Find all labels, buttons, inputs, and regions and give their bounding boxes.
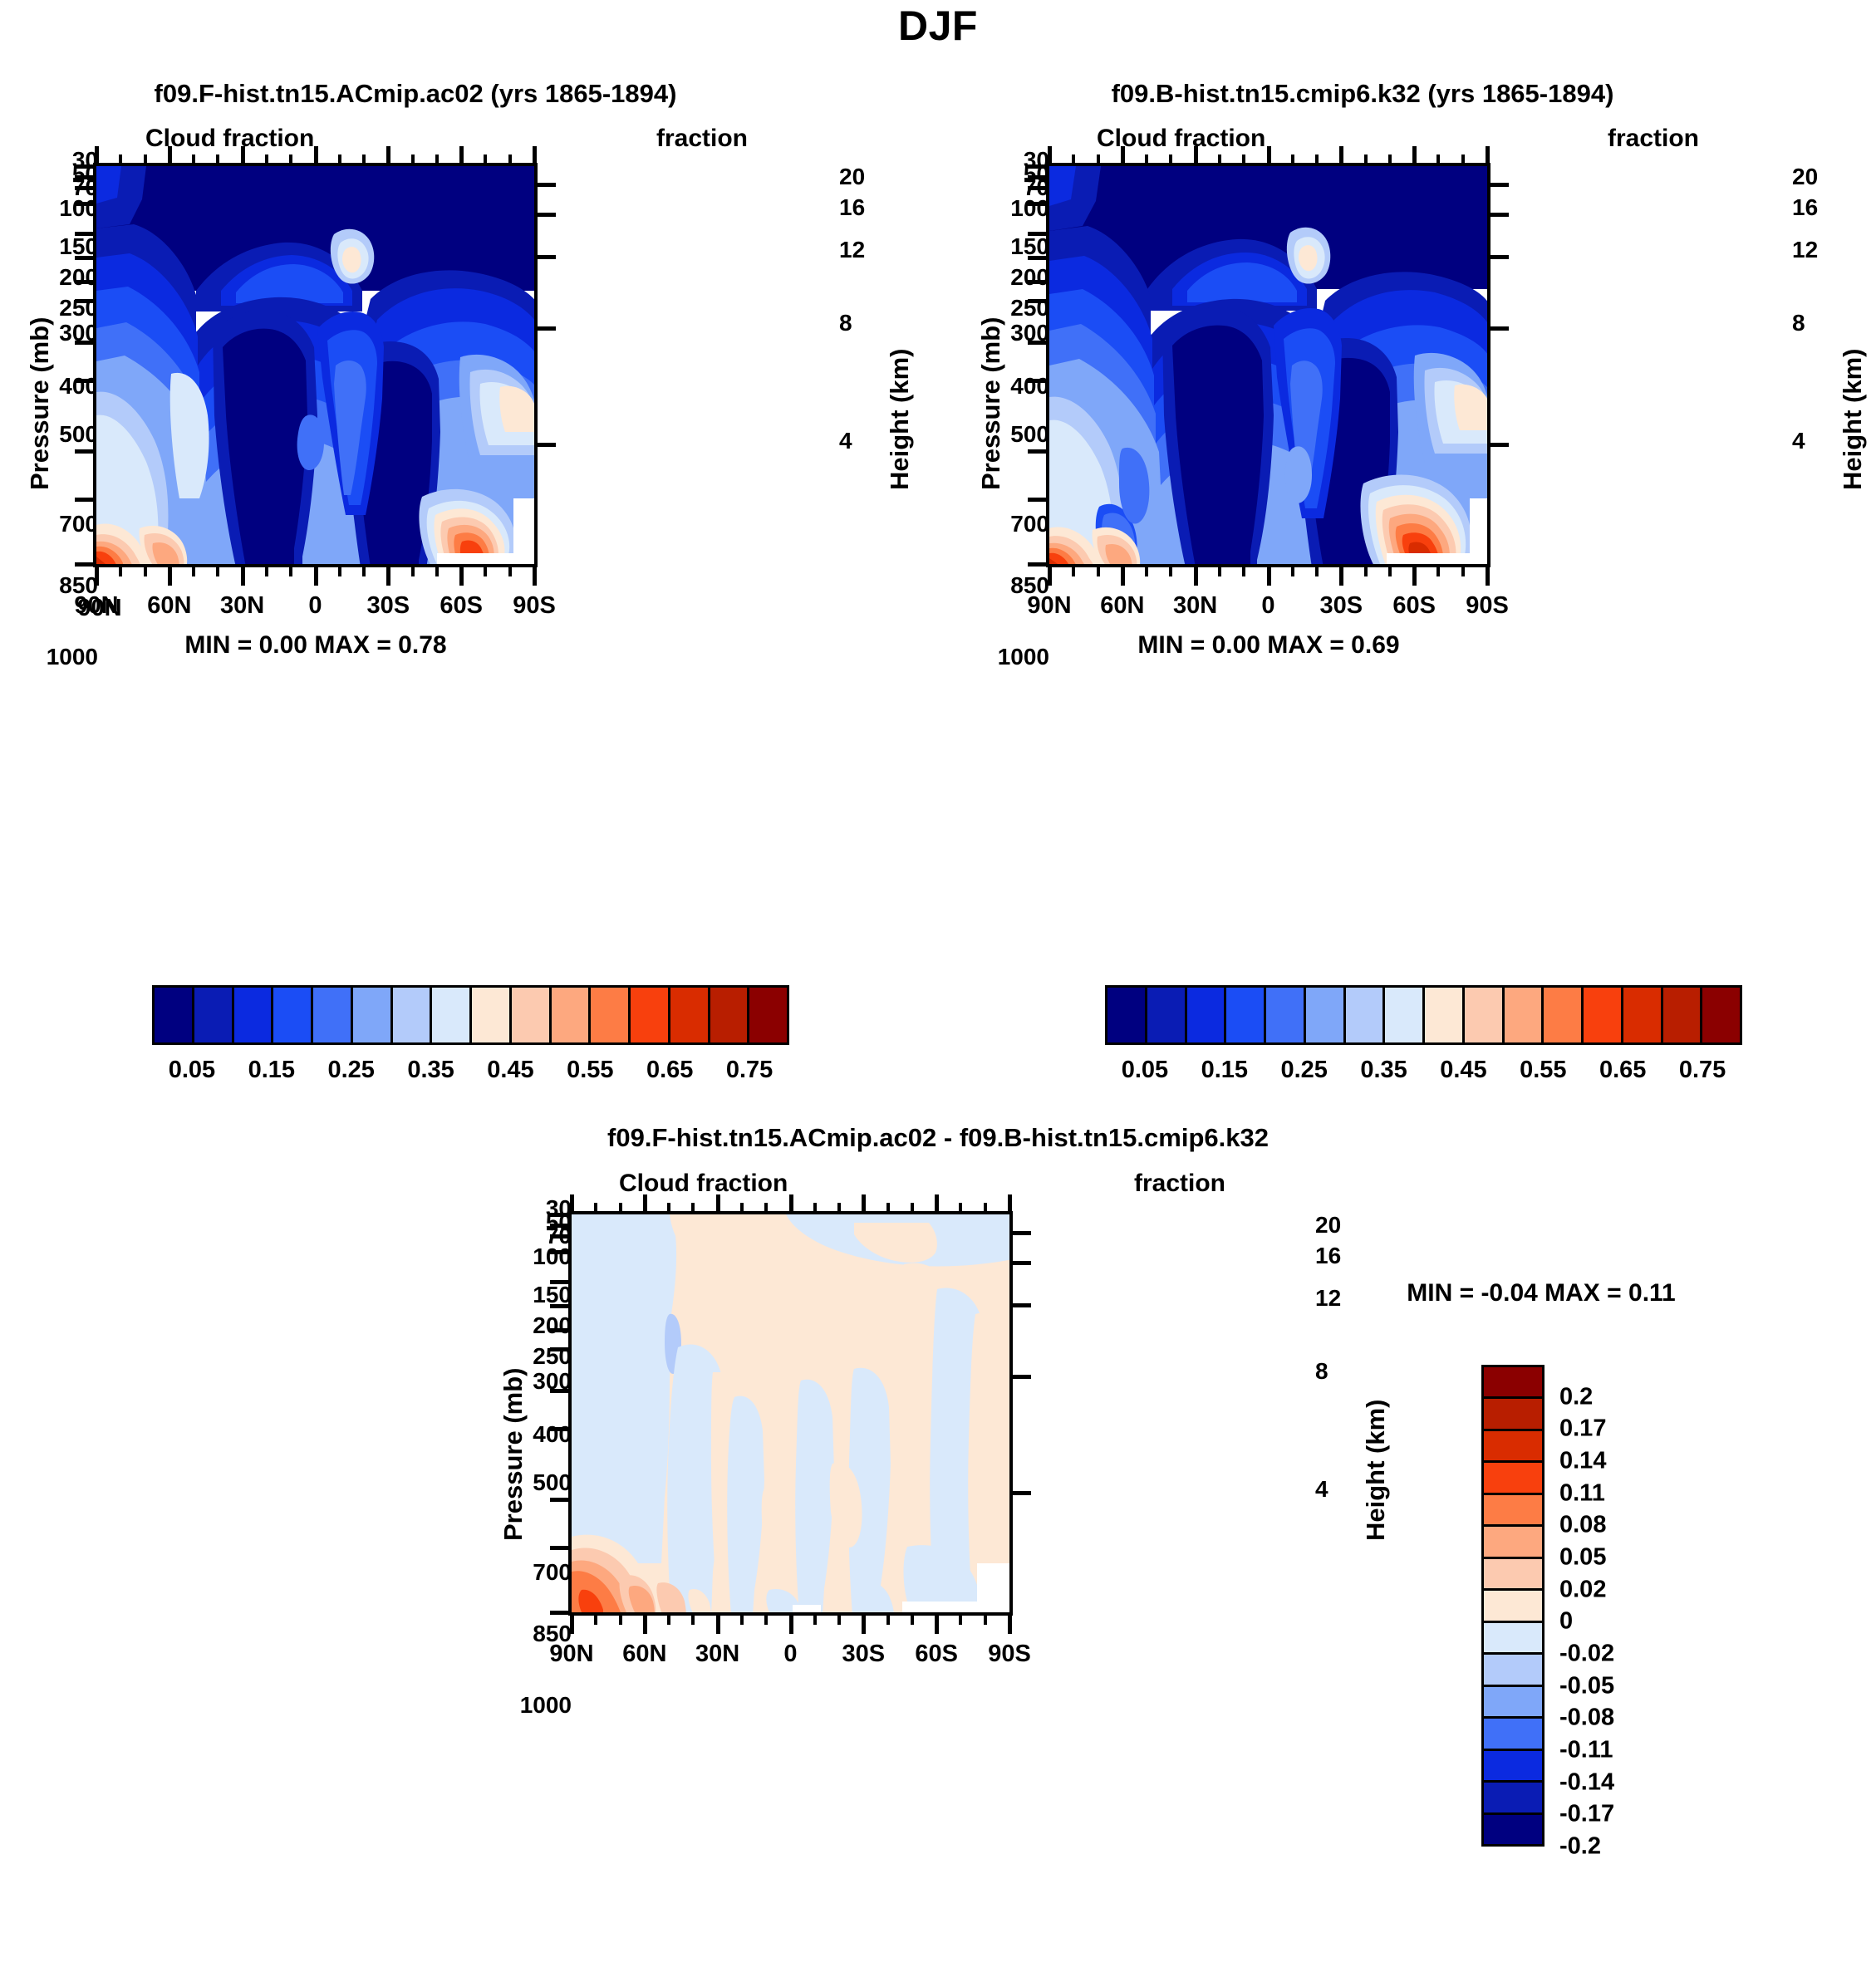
ytick-250: 250 <box>1010 295 1049 321</box>
colorbar-diff-label-2: 0.14 <box>1559 1448 1659 1475</box>
panel-diff-ylabel: Pressure (mb) <box>498 1368 528 1541</box>
panel-left-minmax: MIN = 0.00 MAX = 0.78 <box>184 631 446 660</box>
panel-diff-xtick-label-0: 0 <box>783 1641 797 1668</box>
panel-diff-xtick-label-30S: 30S <box>842 1641 886 1668</box>
colorbar-left-cell-12[interactable] <box>631 988 670 1042</box>
colorbar-diff-label-5: 0.05 <box>1559 1544 1659 1572</box>
panel-left-plot[interactable] <box>93 163 538 567</box>
colorbar-right-label-0: 0.05 <box>1122 1057 1168 1084</box>
panel-left-ylabel-right: Height (km) <box>885 349 915 491</box>
colorbar-diff-cell-12[interactable] <box>1484 1751 1542 1783</box>
panel-right-plot[interactable] <box>1046 163 1490 567</box>
ytick-150: 150 <box>59 233 98 260</box>
ytick-1000: 1000 <box>47 644 98 670</box>
colorbar-right-label-4: 0.45 <box>1440 1057 1486 1084</box>
colorbar-right-cell-8[interactable] <box>1425 988 1465 1042</box>
panel-right-xtick-label-60N: 60N <box>1100 592 1144 620</box>
colorbar-left-cell-15[interactable] <box>749 988 787 1042</box>
colorbar-right-cell-13[interactable] <box>1623 988 1663 1042</box>
ytick-500: 500 <box>1010 421 1049 448</box>
panel-diff-title: f09.F-hist.tn15.ACmip.ac02 - f09.B-hist.… <box>273 1123 1603 1153</box>
panel-left-ylabel: Pressure (mb) <box>25 317 55 490</box>
htick-20: 20 <box>1315 1212 1341 1239</box>
ytick-250: 250 <box>59 295 98 321</box>
colorbar-diff-label-10: -0.08 <box>1559 1705 1659 1732</box>
htick-8: 8 <box>1315 1358 1328 1385</box>
htick-16: 16 <box>1315 1243 1341 1269</box>
colorbar-left-label-5: 0.55 <box>567 1057 613 1084</box>
htick-4: 4 <box>1315 1476 1328 1503</box>
panel-left-xtick-label-60N: 60N <box>147 592 191 620</box>
panel-right-xtick-label-30N: 30N <box>1173 592 1217 620</box>
colorbar-right-label-7: 0.75 <box>1679 1057 1726 1084</box>
panel-left-xtick-label-30N: 30N <box>220 592 264 620</box>
panel-right-minmax: MIN = 0.00 MAX = 0.69 <box>1137 631 1399 660</box>
panel-right-subtitle-right: fraction <box>1608 125 1699 153</box>
ytick-400: 400 <box>1010 373 1049 400</box>
ytick-250: 250 <box>533 1343 572 1370</box>
colorbar-diff-cell-4[interactable] <box>1484 1495 1542 1527</box>
htick-16: 16 <box>1792 194 1818 221</box>
colorbar-diff-label-0: 0.2 <box>1559 1383 1659 1410</box>
panel-left-xtick-label-0: 0 <box>308 592 322 620</box>
panel-diff-ylabel-right: Height (km) <box>1361 1400 1391 1542</box>
colorbar-diff[interactable] <box>1481 1365 1545 1847</box>
colorbar-left-cell-8[interactable] <box>472 988 512 1042</box>
colorbar-right-cell-14[interactable] <box>1663 988 1703 1042</box>
panel-right-xtick-label-90S: 90S <box>1466 592 1509 620</box>
colorbar-diff-cell-3[interactable] <box>1484 1463 1542 1494</box>
ytick-300: 300 <box>59 320 98 346</box>
colorbar-diff-label-9: -0.05 <box>1559 1672 1659 1700</box>
panel-diff-subtitle-right: fraction <box>1134 1170 1225 1198</box>
colorbar-diff-cell-10[interactable] <box>1484 1687 1542 1719</box>
colorbar-left-label-6: 0.65 <box>646 1057 693 1084</box>
colorbar-right-cell-5[interactable] <box>1306 988 1346 1042</box>
colorbar-right-cell-9[interactable] <box>1465 988 1505 1042</box>
ytick-200: 200 <box>1010 264 1049 291</box>
colorbar-diff-cell-5[interactable] <box>1484 1527 1542 1558</box>
colorbar-diff-cell-9[interactable] <box>1484 1655 1542 1686</box>
colorbar-left-label-2: 0.25 <box>327 1057 374 1084</box>
colorbar-diff-cell-14[interactable] <box>1484 1815 1542 1844</box>
colorbar-right-cell-10[interactable] <box>1505 988 1545 1042</box>
figure-title: DJF <box>0 2 1876 50</box>
panel-right-xtick-label-0: 0 <box>1261 592 1274 620</box>
colorbar-left-cell-1[interactable] <box>194 988 234 1042</box>
ytick-1000: 1000 <box>998 644 1049 670</box>
ytick-850: 850 <box>533 1621 572 1647</box>
ytick-100: 100 <box>533 1243 572 1270</box>
colorbar-right-cell-3[interactable] <box>1226 988 1266 1042</box>
colorbar-left-label-0: 0.05 <box>169 1057 215 1084</box>
ytick-300: 300 <box>1010 320 1049 346</box>
colorbar-left-cell-3[interactable] <box>273 988 313 1042</box>
colorbar-right-label-1: 0.15 <box>1201 1057 1248 1084</box>
colorbar-right-cell-1[interactable] <box>1147 988 1187 1042</box>
colorbar-left[interactable] <box>152 985 789 1045</box>
htick-4: 4 <box>1792 428 1805 454</box>
ytick-700: 700 <box>533 1559 572 1586</box>
panel-diff-plot[interactable] <box>568 1211 1013 1616</box>
panel-diff-subtitle-left: Cloud fraction <box>619 1170 788 1198</box>
htick-4: 4 <box>839 428 852 454</box>
colorbar-left-cell-2[interactable] <box>234 988 274 1042</box>
ytick-100: 100 <box>1010 195 1049 222</box>
panel-right-subtitle-left: Cloud fraction <box>1097 125 1265 153</box>
ytick-500: 500 <box>533 1469 572 1496</box>
panel-diff-xtick-label-30N: 30N <box>695 1641 739 1668</box>
colorbar-right-label-5: 0.55 <box>1520 1057 1566 1084</box>
colorbar-right[interactable] <box>1105 985 1742 1045</box>
colorbar-right-cell-12[interactable] <box>1584 988 1623 1042</box>
colorbar-diff-label-8: -0.02 <box>1559 1641 1659 1668</box>
panel-diff-minmax: MIN = -0.04 MAX = 0.11 <box>1407 1279 1675 1307</box>
colorbar-diff-label-13: -0.17 <box>1559 1801 1659 1828</box>
colorbar-right-cell-7[interactable] <box>1385 988 1425 1042</box>
colorbar-right-label-6: 0.65 <box>1599 1057 1646 1084</box>
ytick-300: 300 <box>533 1368 572 1395</box>
panel-diff-xtick-label-90S: 90S <box>988 1641 1031 1668</box>
htick-20: 20 <box>1792 164 1818 190</box>
colorbar-left-label-7: 0.75 <box>726 1057 773 1084</box>
colorbar-diff-label-11: -0.11 <box>1559 1737 1659 1764</box>
panel-left-xtick-label-60S: 60S <box>440 592 483 620</box>
ytick-150: 150 <box>1010 233 1049 260</box>
colorbar-right-label-2: 0.25 <box>1280 1057 1327 1084</box>
colorbar-diff-cell-1[interactable] <box>1484 1399 1542 1430</box>
colorbar-diff-cell-8[interactable] <box>1484 1623 1542 1655</box>
panel-right-xtick-label-30S: 30S <box>1320 592 1363 620</box>
colorbar-left-cell-7[interactable] <box>432 988 472 1042</box>
htick-12: 12 <box>839 237 865 263</box>
colorbar-diff-label-7: 0 <box>1559 1608 1659 1636</box>
panel-right-ylabel-right: Height (km) <box>1838 349 1868 491</box>
panel-left-title: f09.F-hist.tn15.ACmip.ac02 (yrs 1865-189… <box>0 79 831 109</box>
ytick-200: 200 <box>533 1312 572 1339</box>
ytick-850: 850 <box>1010 572 1049 599</box>
panel-left-xtick-label-90S: 90S <box>513 592 556 620</box>
colorbar-right-cell-6[interactable] <box>1346 988 1386 1042</box>
htick-8: 8 <box>1792 310 1805 336</box>
colorbar-right-cell-11[interactable] <box>1544 988 1584 1042</box>
colorbar-diff-label-14: -0.2 <box>1559 1833 1659 1861</box>
panel-left-subtitle-right: fraction <box>656 125 748 153</box>
colorbar-right-cell-15[interactable] <box>1702 988 1740 1042</box>
colorbar-diff-cell-2[interactable] <box>1484 1431 1542 1463</box>
ytick-150: 150 <box>533 1282 572 1308</box>
ytick-400: 400 <box>59 373 98 400</box>
htick-12: 12 <box>1315 1285 1341 1312</box>
htick-12: 12 <box>1792 237 1818 263</box>
colorbar-left-cell-6[interactable] <box>393 988 433 1042</box>
colorbar-diff-label-12: -0.14 <box>1559 1768 1659 1796</box>
colorbar-left-cell-11[interactable] <box>591 988 631 1042</box>
panel-right-title: f09.B-hist.tn15.cmip6.k32 (yrs 1865-1894… <box>947 79 1778 109</box>
colorbar-diff-cell-0[interactable] <box>1484 1367 1542 1399</box>
colorbar-left-cell-5[interactable] <box>353 988 393 1042</box>
panel-left-xtick-label-30S: 30S <box>367 592 410 620</box>
ytick-100: 100 <box>59 195 98 222</box>
htick-16: 16 <box>839 194 865 221</box>
colorbar-left-cell-4[interactable] <box>313 988 353 1042</box>
colorbar-diff-label-3: 0.11 <box>1559 1479 1659 1507</box>
xtick-90N: 90N <box>77 595 121 622</box>
colorbar-diff-cell-11[interactable] <box>1484 1719 1542 1750</box>
colorbar-left-cell-13[interactable] <box>670 988 710 1042</box>
colorbar-left-cell-9[interactable] <box>512 988 552 1042</box>
colorbar-diff-cell-7[interactable] <box>1484 1591 1542 1622</box>
ytick-1000: 1000 <box>520 1692 572 1719</box>
colorbar-diff-cell-13[interactable] <box>1484 1783 1542 1814</box>
panel-right-ylabel: Pressure (mb) <box>976 317 1006 490</box>
htick-20: 20 <box>839 164 865 190</box>
colorbar-diff-label-6: 0.02 <box>1559 1576 1659 1603</box>
colorbar-left-cell-0[interactable] <box>155 988 194 1042</box>
ytick-200: 200 <box>59 264 98 291</box>
ytick-700: 700 <box>1010 511 1049 537</box>
colorbar-left-label-3: 0.35 <box>407 1057 454 1084</box>
colorbar-diff-cell-6[interactable] <box>1484 1559 1542 1591</box>
colorbar-right-cell-4[interactable] <box>1266 988 1306 1042</box>
panel-left-subtitle-left: Cloud fraction <box>145 125 314 153</box>
colorbar-left-label-1: 0.15 <box>248 1057 295 1084</box>
colorbar-right-cell-2[interactable] <box>1187 988 1227 1042</box>
htick-8: 8 <box>839 310 852 336</box>
colorbar-diff-label-1: 0.17 <box>1559 1415 1659 1443</box>
panel-right-xtick-label-60S: 60S <box>1392 592 1436 620</box>
colorbar-left-label-4: 0.45 <box>487 1057 533 1084</box>
colorbar-diff-label-4: 0.08 <box>1559 1512 1659 1539</box>
ytick-400: 400 <box>533 1421 572 1448</box>
panel-diff-xtick-label-60N: 60N <box>622 1641 666 1668</box>
ytick-700: 700 <box>59 511 98 537</box>
panel-diff-xtick-label-60S: 60S <box>915 1641 958 1668</box>
colorbar-right-cell-0[interactable] <box>1107 988 1147 1042</box>
ytick-500: 500 <box>59 421 98 448</box>
colorbar-left-cell-10[interactable] <box>552 988 592 1042</box>
colorbar-left-cell-14[interactable] <box>710 988 750 1042</box>
colorbar-right-label-3: 0.35 <box>1360 1057 1407 1084</box>
